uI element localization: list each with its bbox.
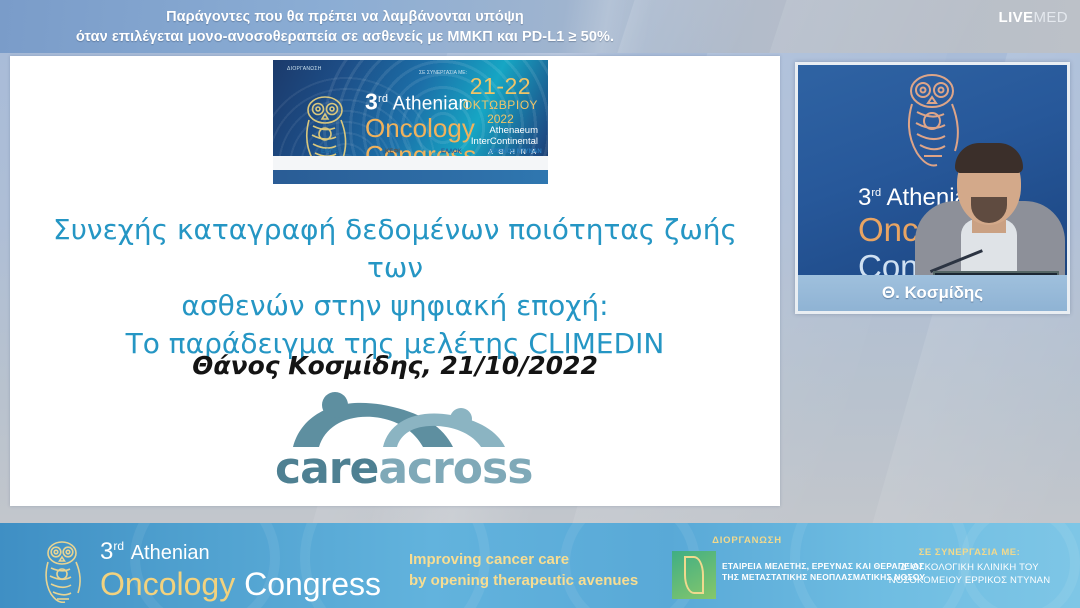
speaker-video-panel[interactable]: 3rd Athenian Oncology Congress Θ. Κοσμίδ… [795,62,1070,314]
organizer-emblem-icon [672,551,716,599]
livemed-logo-live: LIVE [999,9,1034,26]
careacross-mark-icon [275,391,530,449]
slide-author: Θάνος Κοσμίδης, 21/10/2022 [30,351,760,380]
session-title-line2: όταν επιλέγεται μονο-ανοσοθεραπεία σε ασ… [0,27,690,47]
slide-canvas[interactable]: ΔΙΟΡΓΑΝΩΣΗ ΣΕ ΣΥΝΕΡΓΑΣΙΑ ΜΕ: [10,56,780,506]
footer-bar: 3rd Athenian Oncology Congress Improving… [0,523,1080,608]
session-title: Παράγοντες που θα πρέπει να λαμβάνονται … [0,7,690,47]
header-bar: Παράγοντες που θα πρέπει να λαμβάνονται … [0,0,1080,53]
footer-organizer: ΔΙΟΡΓΑΝΩΣΗ ΕΤΑΙΡΕΙΑ ΜΕΛΕΤΗΣ, ΕΡΕΥΝΑΣ ΚΑΙ… [672,535,927,546]
session-title-line1: Παράγοντες που θα πρέπει να λαμβάνονται … [0,7,690,27]
sponsor-logo-1: ΚΕΦΙ [385,149,400,155]
presentation-viewer: Παράγοντες που θα πρέπει να λαμβάνονται … [0,0,1080,608]
banner-sponsor-strip: ΕΘΠΕ ΚΕΦΙ ΕΛΛΟΚ ΕΡΡΙΚΟΣ ΝΤΥΝΑΝ [273,156,548,170]
footer-cooperation-label: ΣΕ ΣΥΝΕΡΓΑΣΙΑ ΜΕ: [867,547,1072,558]
footer-slogan-line2: by opening therapeutic avenues [409,570,638,591]
footer-congress-title: 3rd Athenian Oncology Congress [100,533,381,602]
slide-title-line2: ασθενών στην ψηφιακή εποχή: [30,287,760,325]
banner-cooperation-label: ΣΕ ΣΥΝΕΡΓΑΣΙΑ ΜΕ: [419,70,467,77]
congress-banner-image: ΔΙΟΡΓΑΝΩΣΗ ΣΕ ΣΥΝΕΡΓΑΣΙΑ ΜΕ: [273,60,548,184]
slide-title: Συνεχής καταγραφή δεδομένων ποιότητας ζω… [30,211,760,363]
sponsor-logo-3: ΕΡΡΙΚΟΣ ΝΤΥΝΑΝ [489,149,542,155]
footer-organizer-label: ΔΙΟΡΓΑΝΩΣΗ [672,535,822,546]
banner-footer-strip [273,170,548,184]
careacross-word-across: across [378,443,532,494]
speaker-name: Θ. Κοσμίδης [798,275,1067,311]
sponsor-logo-0: ΕΘΠΕ [321,149,338,155]
livemed-logo[interactable]: LIVEMED [999,10,1069,25]
owl-icon [36,537,92,603]
banner-organizer-label: ΔΙΟΡΓΑΝΩΣΗ [287,66,322,72]
banner-dates: 21-22 ΟΚΤΩΒΡΙΟΥ 2022 [463,74,538,126]
livemed-logo-med: MED [1033,9,1068,26]
footer-slogan: Improving cancer care by opening therape… [409,549,638,591]
footer-slogan-line1: Improving cancer care [409,549,638,570]
sponsor-logo-2: ΕΛΛΟΚ [441,149,462,155]
footer-cooperation: ΣΕ ΣΥΝΕΡΓΑΣΙΑ ΜΕ: Δ' ΟΓΚΟΛΟΓΙΚΗ ΚΛΙΝΙΚΗ … [867,547,1072,587]
footer-cooperation-name: Δ' ΟΓΚΟΛΟΓΙΚΗ ΚΛΙΝΙΚΗ ΤΟΥ ΝΟΣΟΚΟΜΕΙΟΥ ΕΡ… [867,561,1072,587]
speaker-nameplate: Θ. Κοσμίδης [798,275,1067,311]
careacross-logo: careacross [275,391,530,491]
careacross-wordmark: careacross [275,447,530,491]
careacross-word-care: care [275,443,378,494]
slide-title-line1: Συνεχής καταγραφή δεδομένων ποιότητας ζω… [30,211,760,287]
